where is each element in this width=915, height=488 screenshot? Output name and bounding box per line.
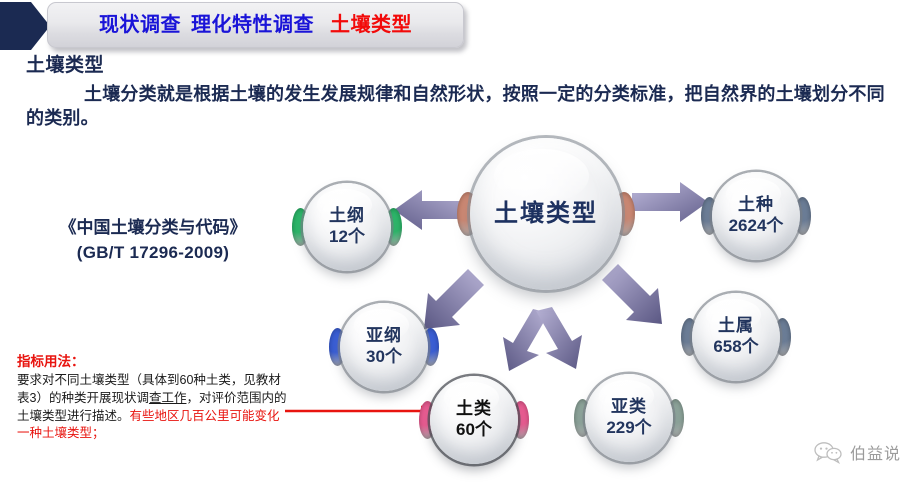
usage-note-body-2: 查工作 [149, 391, 187, 405]
wechat-bubble-icon [813, 440, 843, 464]
node-count: 30个 [366, 348, 402, 367]
node-title: 亚纲 [366, 327, 402, 346]
node-title: 土壤类型 [494, 201, 598, 227]
page-title: 土壤类型 [26, 56, 104, 77]
diagram-node-yalei[interactable]: 亚类 229个 [585, 374, 673, 462]
breadcrumb: 现状调查理化特性调查土壤类型 [47, 2, 464, 48]
node-body: 亚类 229个 [585, 374, 673, 462]
pointer-arrow-icon [285, 404, 435, 418]
chevron-right-icon [0, 2, 50, 50]
watermark-text: 伯益说 [850, 440, 901, 464]
breadcrumb-item-2[interactable]: 理化特性调查 [191, 14, 314, 36]
standard-reference-line2: (GB/T 17296-2009) [18, 241, 288, 266]
node-count: 60个 [456, 421, 492, 440]
diagram-node-yagang[interactable]: 亚纲 30个 [340, 303, 428, 391]
node-title: 土类 [456, 400, 492, 419]
usage-note: 指标用法：要求对不同土壤类型（具体到60种土类，见教材表3）的种类开展现状调查工… [17, 352, 292, 443]
node-body: 土纲 12个 [303, 183, 391, 271]
node-title: 土纲 [329, 207, 365, 226]
standard-reference: 《中国土壤分类与代码》 (GB/T 17296-2009) [18, 216, 288, 265]
node-body: 土类 60个 [430, 376, 518, 464]
breadcrumb-item-1[interactable]: 现状调查 [99, 14, 181, 36]
node-body: 亚纲 30个 [340, 303, 428, 391]
slide-canvas: 现状调查理化特性调查土壤类型 土壤类型 土壤分类就是根据土壤的发生发展规律和自然… [0, 0, 915, 488]
arrow-down-right-inner-icon [528, 305, 586, 373]
node-title: 亚类 [611, 398, 647, 417]
diagram-node-center[interactable]: 土壤类型 [470, 138, 622, 290]
watermark: 伯益说 [813, 440, 901, 464]
breadcrumb-item-3[interactable]: 土壤类型 [330, 14, 412, 36]
node-count: 2624个 [729, 217, 784, 236]
diagram-node-tuzhong[interactable]: 土种 2624个 [712, 172, 800, 260]
node-title: 土属 [718, 317, 754, 336]
node-count: 229个 [606, 419, 651, 438]
node-body: 土壤类型 [470, 138, 622, 290]
diagram-node-tushu[interactable]: 土属 658个 [692, 293, 780, 381]
intro-paragraph: 土壤分类就是根据土壤的发生发展规律和自然形状，按照一定的分类标准，把自然界的土壤… [26, 82, 892, 131]
node-title: 土种 [738, 196, 774, 215]
usage-note-heading: 指标用法： [17, 352, 292, 371]
diagram-node-tulei[interactable]: 土类 60个 [430, 376, 518, 464]
arrow-right-icon [632, 180, 710, 224]
node-body: 土属 658个 [692, 293, 780, 381]
diagram-node-tugang[interactable]: 土纲 12个 [303, 183, 391, 271]
node-count: 658个 [713, 338, 758, 357]
node-count: 12个 [329, 228, 365, 247]
standard-reference-line1: 《中国土壤分类与代码》 [18, 216, 288, 241]
node-body: 土种 2624个 [712, 172, 800, 260]
